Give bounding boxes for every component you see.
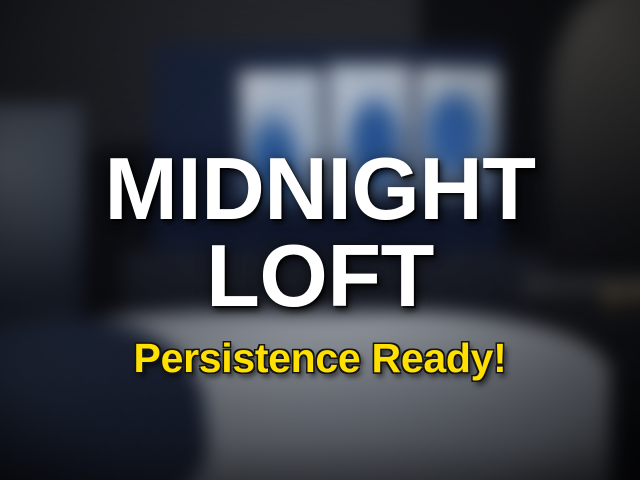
title-slide: MIDNIGHT LOFT Persistence Ready! xyxy=(0,0,640,480)
nightstand-top xyxy=(522,276,640,297)
framed-artwork-3 xyxy=(414,64,501,200)
wall-wash-glow xyxy=(549,0,640,323)
framed-artwork-2 xyxy=(328,62,412,197)
framed-artwork-1 xyxy=(238,67,326,204)
nightstand-drawer-1 xyxy=(549,320,640,322)
foreground-shadow xyxy=(0,442,640,480)
candle-glow-2 xyxy=(636,289,640,299)
background-scene xyxy=(0,0,640,480)
